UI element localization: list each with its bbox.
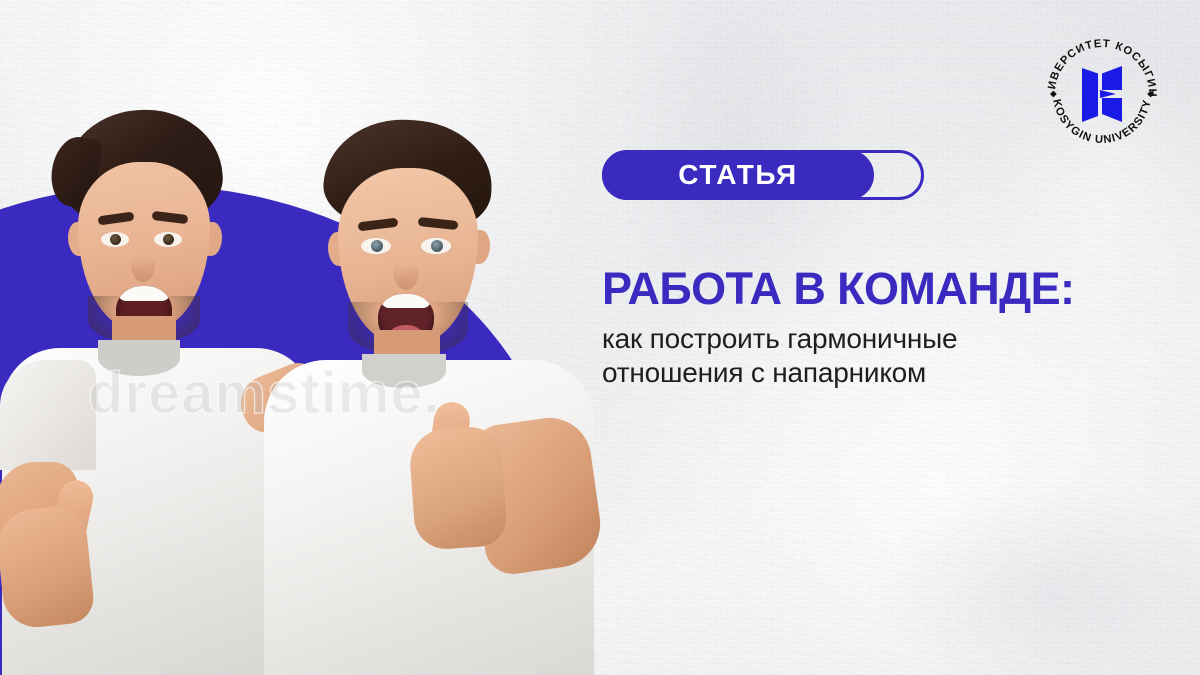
article-badge: СТАТЬЯ: [602, 150, 924, 200]
logo-ring-text-en: KOSYGIN UNIVERSITY: [1050, 98, 1154, 146]
person-left-nose: [131, 246, 155, 282]
person-left-teeth: [118, 286, 170, 301]
person-right: [282, 120, 612, 675]
person-right-teeth: [381, 294, 431, 308]
page-subtitle: как построить гармоничные отношения с на…: [602, 322, 957, 390]
person-right-eye-right: [421, 238, 451, 254]
person-left-shoulder: [0, 360, 96, 470]
person-right-eye-left: [361, 238, 391, 254]
person-right-nose: [393, 252, 419, 290]
page-subtitle-line-2: отношения с напарником: [602, 356, 957, 390]
person-left-thumbs-up-hand: [0, 504, 96, 631]
kosygin-university-logo: УНИВЕРСИТЕТ КОСЫГИНА KOSYGIN UNIVERSITY: [1038, 30, 1166, 158]
page-subtitle-line-1: как построить гармоничные: [602, 322, 957, 356]
logo-k-monogram-icon: [1082, 66, 1122, 122]
person-right-thumbs-up-hand: [408, 425, 508, 551]
logo-ring-text-ru: УНИВЕРСИТЕТ КОСЫГИНА: [1038, 30, 1158, 98]
person-left-eye-right: [154, 232, 182, 247]
person-left-eye-left: [101, 232, 129, 247]
article-badge-label: СТАТЬЯ: [602, 150, 874, 200]
social-media-article-card: dreamstime. СТАТЬЯ РАБОТА В КОМАНДЕ: как…: [0, 0, 1200, 675]
photo-two-men-thumbs-up: dreamstime.: [0, 0, 620, 675]
page-title: РАБОТА В КОМАНДЕ:: [602, 266, 1074, 311]
